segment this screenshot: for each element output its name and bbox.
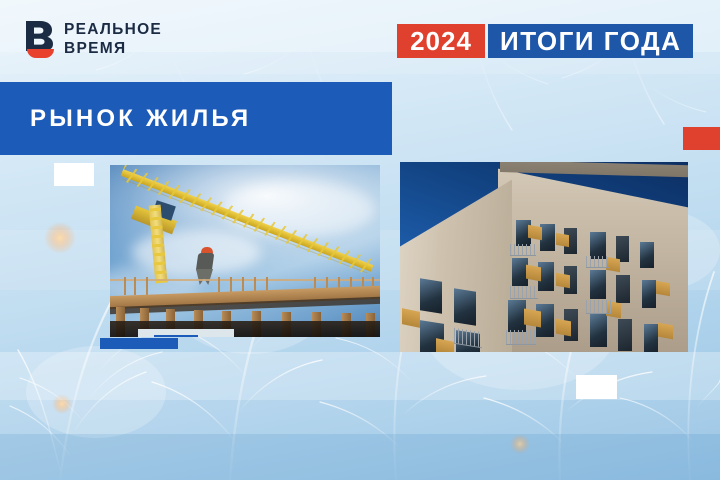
- year-results-label: ИТОГИ ГОДА: [488, 24, 693, 58]
- white-accent-left: [54, 163, 94, 186]
- balcony-box: [528, 225, 542, 240]
- construction-site-photo: [110, 165, 380, 337]
- balcony-box: [524, 309, 541, 328]
- white-accent-bottom-right: [576, 375, 617, 399]
- brand-logo-text: РЕАЛЬНОЕ ВРЕМЯ: [64, 22, 162, 56]
- red-accent-block: [683, 127, 720, 150]
- year-badge: 2024: [397, 24, 485, 58]
- balcony-box: [556, 233, 569, 247]
- balcony-railing: [506, 330, 536, 345]
- cloud: [223, 182, 374, 237]
- logo-line-1: РЕАЛЬНОЕ: [64, 22, 162, 38]
- balcony-railing: [510, 286, 538, 299]
- balcony-railing: [586, 256, 610, 268]
- balcony-box: [658, 323, 673, 340]
- blue-accent-strip: [100, 338, 178, 349]
- logo-red-accent: [27, 49, 54, 58]
- logo-line-2: ВРЕМЯ: [64, 41, 162, 57]
- balcony-box: [526, 265, 541, 282]
- apartment-building-photo: [400, 162, 688, 352]
- lower-floor-blue-panel: [154, 335, 198, 337]
- formwork-deck: [110, 291, 380, 337]
- balcony-railing: [510, 244, 536, 256]
- brand-logo[interactable]: РЕАЛЬНОЕ ВРЕМЯ: [24, 20, 162, 58]
- balcony-box: [556, 273, 570, 288]
- stylized-v-logo-icon: [24, 20, 55, 58]
- year-results-banner: 2024 ИТОГИ ГОДА: [397, 24, 693, 58]
- balcony-box: [656, 281, 670, 296]
- poster-canvas: РЕАЛЬНОЕ ВРЕМЯ 2024 ИТОГИ ГОДА РЫНОК ЖИЛ…: [0, 0, 720, 480]
- balcony-box: [556, 319, 571, 337]
- balcony-railing: [586, 300, 612, 314]
- page-title: РЫНОК ЖИЛЬЯ: [0, 105, 251, 133]
- page-title-banner: РЫНОК ЖИЛЬЯ: [0, 82, 392, 155]
